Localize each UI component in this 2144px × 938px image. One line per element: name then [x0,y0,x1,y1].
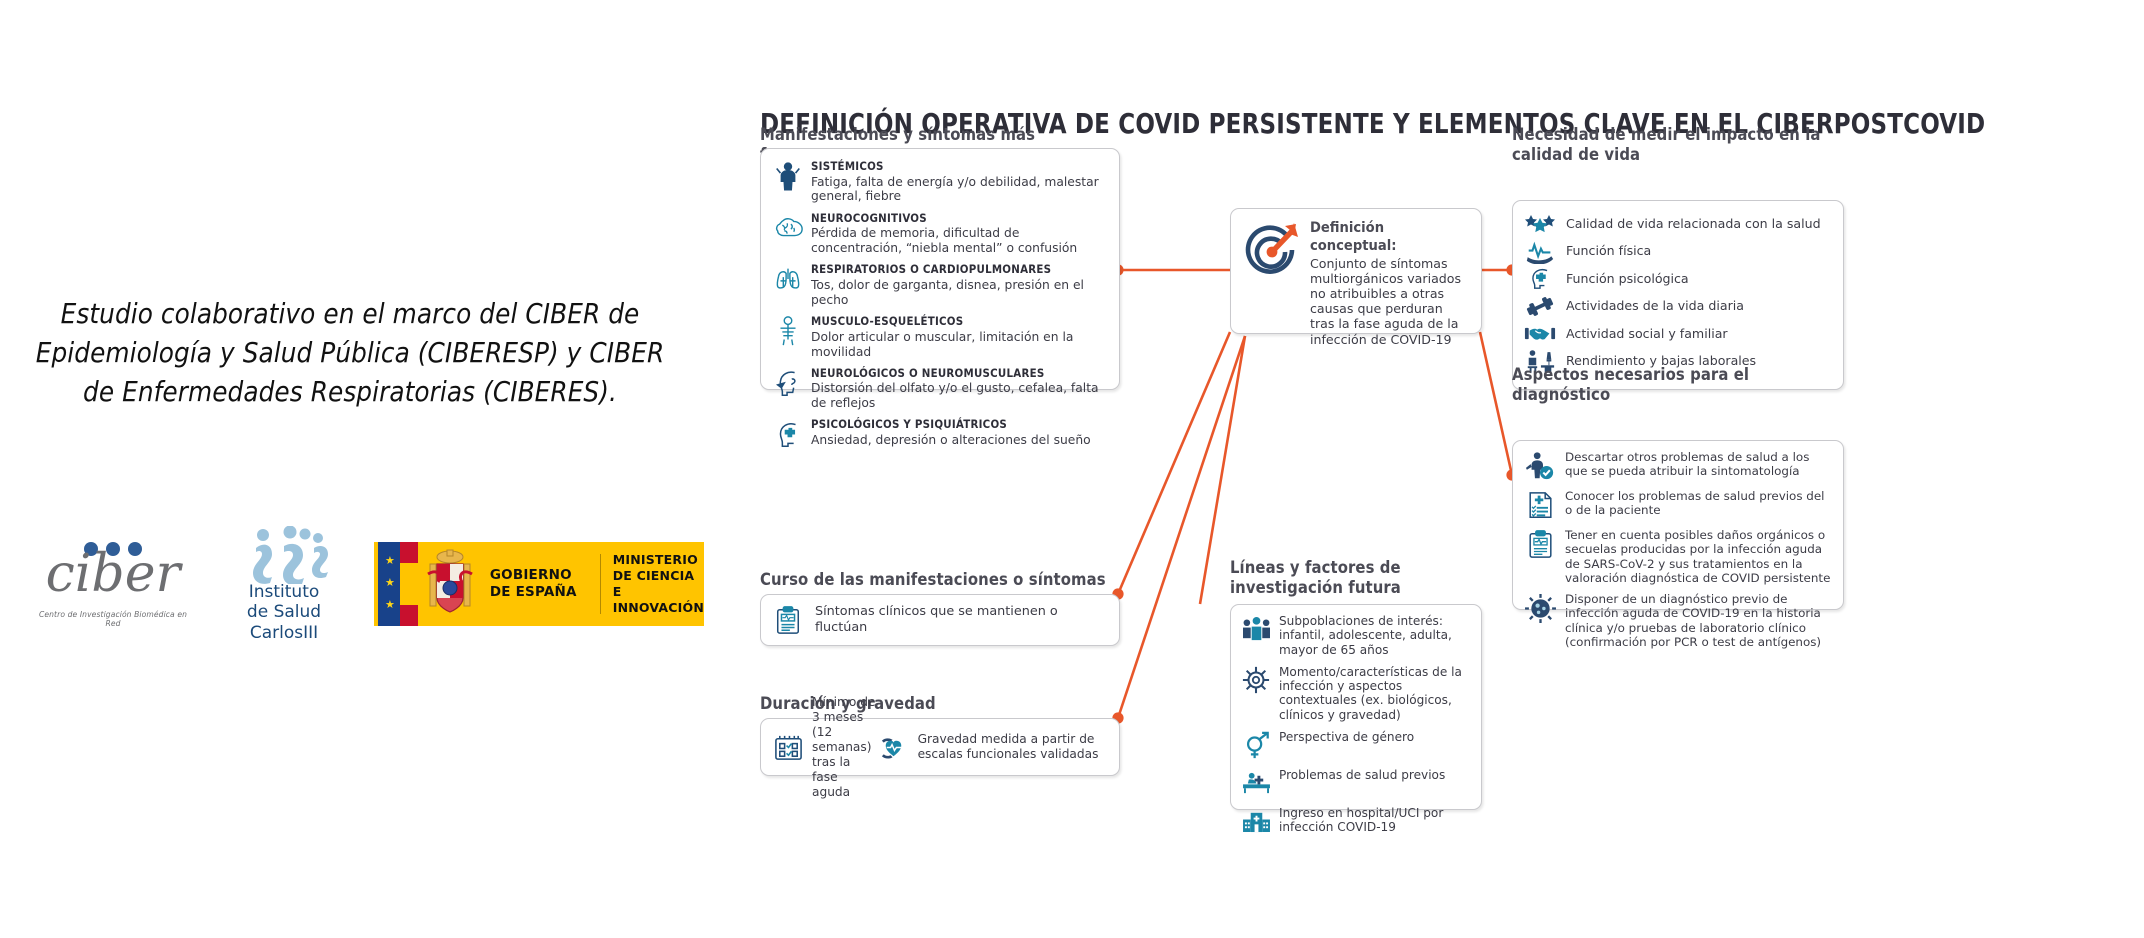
definition-panel: Definición conceptual: Conjunto de sínto… [1230,208,1482,334]
gobierno-espana-logo: ★ ★ ★ [374,542,704,626]
list-item: Perspectiva de género [1240,730,1472,760]
body-systemic-icon [771,159,805,193]
list-item: PSICOLÓGICOS Y PSIQUIÁTRICOS Ansiedad, d… [771,417,1109,451]
item-title: SISTÉMICOS [811,160,1109,174]
virus-icon [1523,592,1557,624]
item-title: RESPIRATORIOS O CARDIOPULMONARES [811,263,1109,277]
isciii-name: Instituto de Salud CarlosIII [224,582,344,643]
brain-icon [771,211,805,245]
item-text: Tener en cuenta posibles daños orgánicos… [1565,528,1833,585]
people-group-icon [1240,614,1272,644]
item-text: Actividad social y familiar [1566,326,1728,342]
ciber-tagline: Centro de Investigación Biomédica en Red [38,610,188,628]
item-text: Momento/características de la infección … [1279,665,1472,722]
item-text: Disponer de un diagnóstico previo de inf… [1565,592,1833,649]
item-text: Ingreso en hospital/UCI por infección CO… [1279,806,1472,835]
item-text: Descartar otros problemas de salud a los… [1565,450,1833,479]
clipboard-pulse-icon [773,604,803,636]
list-item: Tener en cuenta posibles daños orgánicos… [1523,528,1833,585]
list-item: Subpoblaciones de interés: infantil, ado… [1240,614,1472,657]
list-item: NEUROLÓGICOS O NEUROMUSCULARES Distorsió… [771,366,1109,411]
item-text: Función física [1566,243,1651,259]
medical-record-icon [1523,489,1557,521]
list-item: Momento/características de la infección … [1240,665,1472,722]
definition-text: Conjunto de síntomas multiorgánicos vari… [1310,256,1461,347]
flag-stripe-icon: ★ ★ ★ [374,542,417,626]
list-item: Calidad de vida relacionada con la salud [1523,210,1833,238]
item-text: Actividades de la vida diaria [1566,298,1744,314]
infographic-canvas: Estudio colaborativo en el marco del CIB… [0,0,2144,938]
calidad-heading: Necesidad de medir el impacto en la cali… [1512,125,1852,165]
ministerio-text: MINISTERIO DE CIENCIA E INNOVACIÓN [601,542,704,626]
lineas-heading: Líneas y factores de investigación futur… [1230,558,1480,598]
isciii-logo: Instituto de Salud CarlosIII [224,526,344,646]
list-item: NEUROCOGNITIVOS Pérdida de memoria, difi… [771,211,1109,256]
diagram-area: DEFINICIÓN OPERATIVA DE COVID PERSISTENT… [700,0,2144,938]
item-text: Pérdida de memoria, dificultad de concen… [811,226,1077,255]
item-title: NEUROLÓGICOS O NEUROMUSCULARES [811,367,1109,381]
list-item: Función física [1523,238,1833,266]
list-item: Actividades de la vida diaria [1523,293,1833,321]
handshake-icon [1523,321,1557,347]
item-text: Ansiedad, depresión o alteraciones del s… [811,433,1091,447]
gender-icon [1240,730,1272,760]
item-text: Perspectiva de género [1279,730,1414,744]
head-puzzle-icon [771,417,805,451]
list-item: Descartar otros problemas de salud a los… [1523,450,1833,482]
stars-icon [1523,211,1557,237]
target-arrow-icon [1241,219,1303,281]
item-text: Problemas de salud previos [1279,768,1445,782]
curso-text: Síntomas clínicos que se mantienen o flu… [815,604,1107,637]
hospital-icon [1240,806,1272,836]
lineas-panel: Subpoblaciones de interés: infantil, ado… [1230,604,1482,810]
item-text: Calidad de vida relacionada con la salud [1566,216,1821,232]
item-title: NEUROCOGNITIVOS [811,212,1109,226]
item-title: MUSCULO-ESQUELÉTICOS [811,315,1109,329]
logo-row: ciber Centro de Investigación Biomédica … [24,520,684,650]
coat-of-arms-icon [417,542,482,626]
item-text: Conocer los problemas de salud previos d… [1565,489,1833,518]
item-text: Subpoblaciones de interés: infantil, ado… [1279,614,1472,657]
patient-bed-icon [1240,768,1272,798]
calendar-check-icon [772,731,804,763]
ciber-wordmark: ciber [38,548,188,600]
curso-panel: Síntomas clínicos que se mantienen o flu… [760,594,1120,646]
list-item: Actividad social y familiar [1523,320,1833,348]
list-item: Problemas de salud previos [1240,768,1472,798]
dumbbell-icon [1523,293,1557,319]
list-item: Disponer de un diagnóstico previo de inf… [1523,592,1833,649]
item-text: Dolor articular o muscular, limitación e… [811,330,1073,359]
list-item: Función psicológica [1523,265,1833,293]
item-text: Distorsión del olfato y/o el gusto, cefa… [811,381,1099,410]
person-check-icon [1523,450,1557,482]
list-item: Mínimo de 3 meses (12 semanas) tras la f… [772,695,878,800]
head-puzzle-icon [1523,266,1557,292]
list-item: SISTÉMICOS Fatiga, falta de energía y/o … [771,159,1109,204]
calidad-panel: Calidad de vida relacionada con la salud… [1512,200,1844,390]
item-text: Tos, dolor de garganta, disnea, presión … [811,278,1084,307]
symptoms-panel: SISTÉMICOS Fatiga, falta de energía y/o … [760,148,1120,390]
duracion-text: Gravedad medida a partir de escalas func… [918,732,1108,762]
left-credits-block: Estudio colaborativo en el marco del CIB… [0,0,700,938]
list-item: MUSCULO-ESQUELÉTICOS Dolor articular o m… [771,314,1109,359]
diagnostico-panel: Descartar otros problemas de salud a los… [1512,440,1844,610]
isciii-mark-icon [246,526,332,584]
list-item: Gravedad medida a partir de escalas func… [878,731,1108,763]
duracion-text: Mínimo de 3 meses (12 semanas) tras la f… [812,695,878,800]
clipboard-chart-icon [1523,528,1557,560]
list-item: Ingreso en hospital/UCI por infección CO… [1240,806,1472,836]
ciber-logo: ciber Centro de Investigación Biomédica … [38,538,188,630]
list-item: RESPIRATORIOS O CARDIOPULMONARES Tos, do… [771,262,1109,307]
item-text: Fatiga, falta de energía y/o debilidad, … [811,175,1099,204]
pulse-hand-icon [1523,238,1557,264]
curso-heading: Curso de las manifestaciones o síntomas [760,570,1120,590]
virus-icon [1240,665,1272,695]
head-nerve-icon [771,366,805,400]
definition-title: Definición conceptual: [1310,219,1470,254]
heart-hands-icon [878,731,910,763]
gobierno-text: GOBIERNO DE ESPAÑA [482,542,600,626]
lungs-icon [771,262,805,296]
item-title: PSICOLÓGICOS Y PSIQUIÁTRICOS [811,418,1091,432]
list-item: Conocer los problemas de salud previos d… [1523,489,1833,521]
study-note: Estudio colaborativo en el marco del CIB… [20,295,680,412]
diagnostico-heading: Aspectos necesarios para el diagnóstico [1512,365,1852,405]
duracion-panel: Mínimo de 3 meses (12 semanas) tras la f… [760,718,1120,776]
item-text: Función psicológica [1566,271,1689,287]
skeleton-icon [771,314,805,348]
